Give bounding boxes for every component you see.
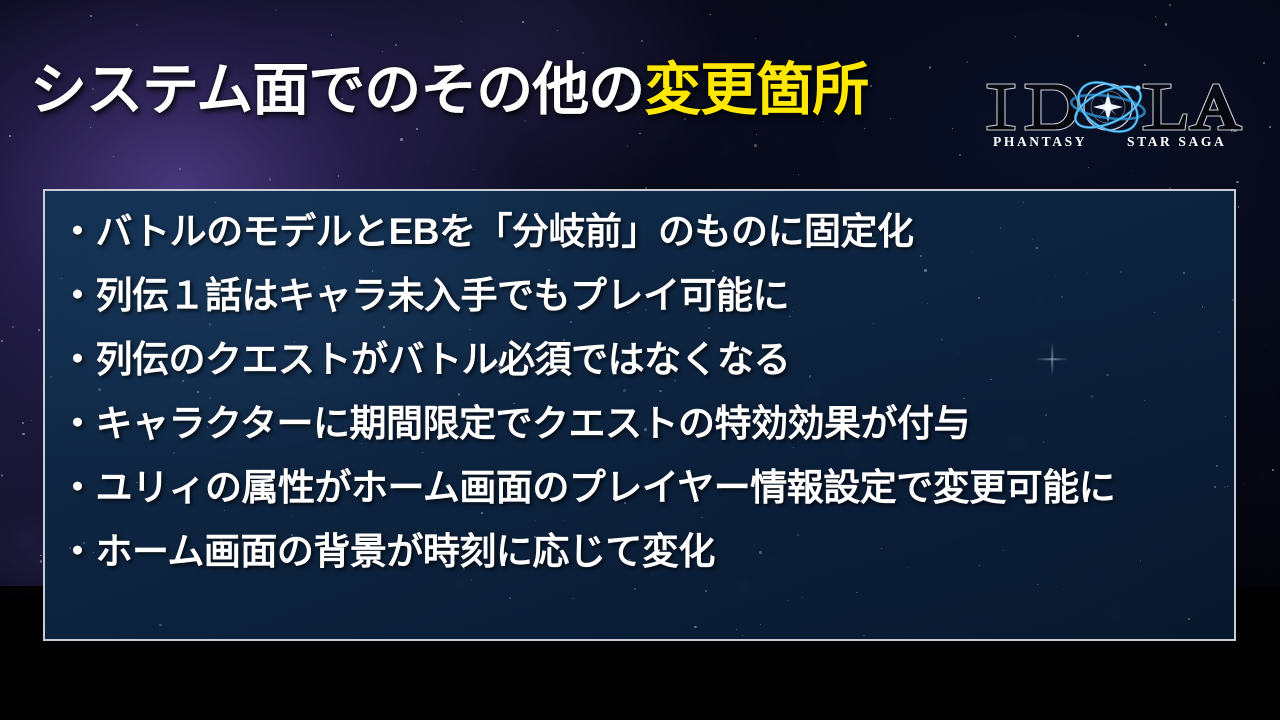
page-title-plain: システム面でのその他の [30, 58, 644, 122]
page-title: システム面でのその他の変更箇所 [30, 58, 868, 124]
content-panel: ・バトルのモデルとEBを「分岐前」のものに固定化 ・列伝１話はキャラ未入手でもプ… [43, 189, 1236, 641]
svg-text:™: ™ [1230, 129, 1237, 136]
svg-text:PHANTASY: PHANTASY [993, 134, 1087, 149]
page-title-accent: 変更箇所 [644, 58, 868, 122]
list-item: ・列伝のクエストがバトル必須ではなくなる [59, 341, 1228, 378]
list-item: ・列伝１話はキャラ未入手でもプレイ可能に [59, 277, 1228, 314]
list-item: ・バトルのモデルとEBを「分岐前」のものに固定化 [59, 213, 1228, 250]
list-item: ・キャラクターに期間限定でクエストの特効効果が付与 [59, 405, 1228, 442]
presentation-slide: システム面でのその他の変更箇所 [0, 0, 1280, 720]
bullet-list: ・バトルのモデルとEBを「分岐前」のものに固定化 ・列伝１話はキャラ未入手でもプ… [59, 213, 1228, 570]
idola-logo: PHANTASY STAR SAGA ™ [975, 62, 1243, 158]
list-item: ・ユリィの属性がホーム画面のプレイヤー情報設定で変更可能に [59, 469, 1228, 506]
list-item: ・ホーム画面の背景が時刻に応じて変化 [59, 533, 1228, 570]
svg-text:STAR SAGA: STAR SAGA [1127, 134, 1226, 149]
